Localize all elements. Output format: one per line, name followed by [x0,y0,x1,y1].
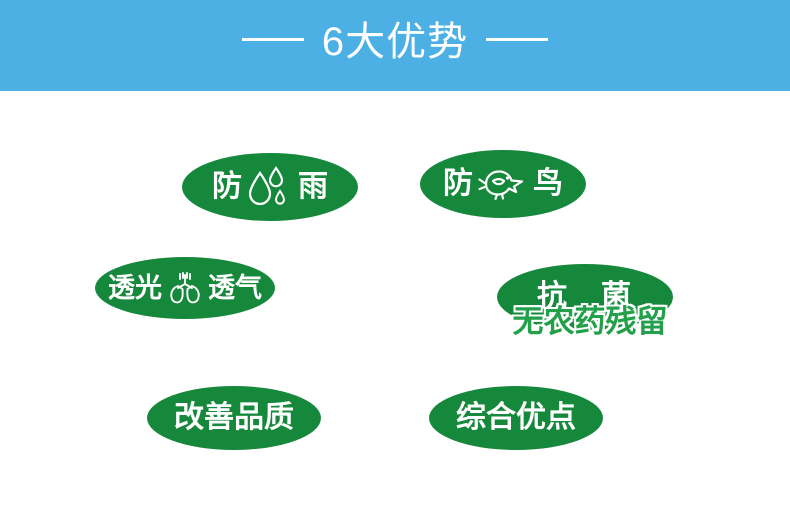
badge-birdproof-content: 防 鸟 [443,165,563,203]
badge-birdproof: 防 鸟 [420,150,586,218]
banner-right-rule-icon [486,38,548,41]
badge-overall-advantages-label: 综合优点 [456,403,576,433]
page-title: 6大优势 [322,22,468,62]
badge-birdproof-text-after: 鸟 [533,169,563,199]
bird-icon [478,165,528,203]
badge-rainproof: 防 雨 [182,153,358,221]
lungs-icon [167,271,203,305]
badge-light-text-before: 透光 [108,275,162,302]
header-banner: 6大优势 [0,0,790,91]
badge-rainproof-text-before: 防 [212,172,242,202]
badge-light-text-after: 透气 [208,275,262,302]
badge-light-breathable: 透光 透气 [95,257,275,319]
banner-content: 6大优势 [242,20,548,60]
badge-light-breathable-content: 透光 透气 [108,271,262,305]
pesticide-free-overlay-text: 无农药残留 [500,306,680,337]
badge-improve-quality-label: 改善品质 [174,403,294,433]
pesticide-free-label: 无农药残留 [513,304,668,339]
badge-rainproof-text-after: 雨 [298,172,328,202]
badge-birdproof-text-before: 防 [443,169,473,199]
water-drop-icon [247,165,293,209]
banner-left-rule-icon [242,38,304,41]
badge-overall-advantages: 综合优点 [429,386,603,450]
badge-rainproof-content: 防 雨 [212,165,328,209]
badge-improve-quality: 改善品质 [147,386,321,450]
